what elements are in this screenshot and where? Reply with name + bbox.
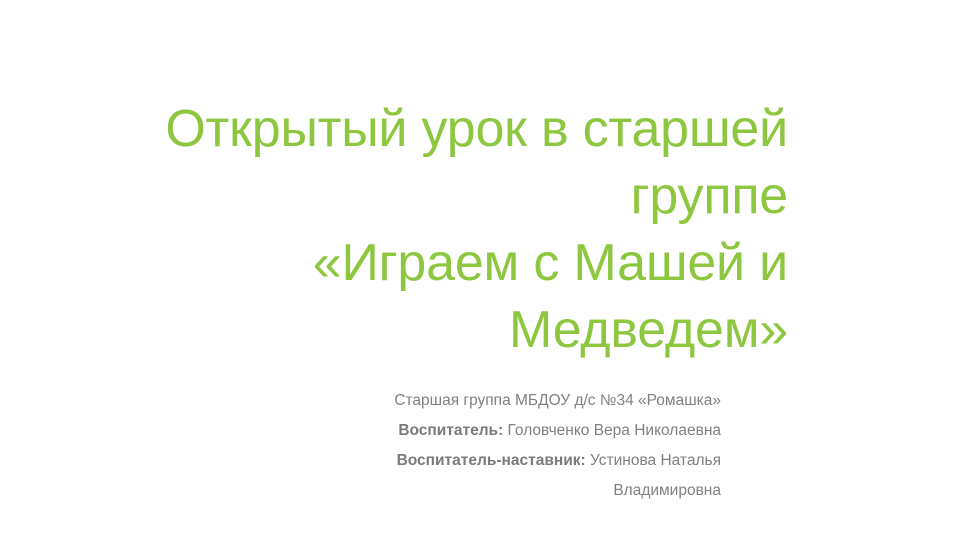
- subtitle-value-1: Старшая группа МБДОУ д/с №34 «Ромашка»: [394, 392, 721, 409]
- title-line-1: Открытый урок в старшей: [120, 96, 788, 163]
- title-line-2: группе: [120, 163, 788, 230]
- slide-subtitle: Старшая группа МБДОУ д/с №34 «Ромашка» В…: [330, 386, 721, 506]
- subtitle-line-3: Воспитатель-наставник: Устинова Наталья: [330, 446, 721, 476]
- subtitle-value-4: Владимировна: [613, 482, 721, 499]
- subtitle-line-4: Владимировна: [330, 476, 721, 506]
- subtitle-line-1: Старшая группа МБДОУ д/с №34 «Ромашка»: [330, 386, 721, 416]
- subtitle-value-3: Устинова Наталья: [586, 452, 721, 469]
- title-line-4: Медведем»: [120, 297, 788, 364]
- subtitle-label-2: Воспитатель:: [398, 422, 503, 439]
- slide-title: Открытый урок в старшей группе «Играем с…: [120, 96, 788, 364]
- subtitle-label-3: Воспитатель-наставник:: [397, 452, 586, 469]
- presentation-slide: Открытый урок в старшей группе «Играем с…: [0, 0, 960, 540]
- subtitle-value-2: Головченко Вера Николаевна: [503, 422, 721, 439]
- subtitle-line-2: Воспитатель: Головченко Вера Николаевна: [330, 416, 721, 446]
- title-line-3: «Играем с Машей и: [120, 230, 788, 297]
